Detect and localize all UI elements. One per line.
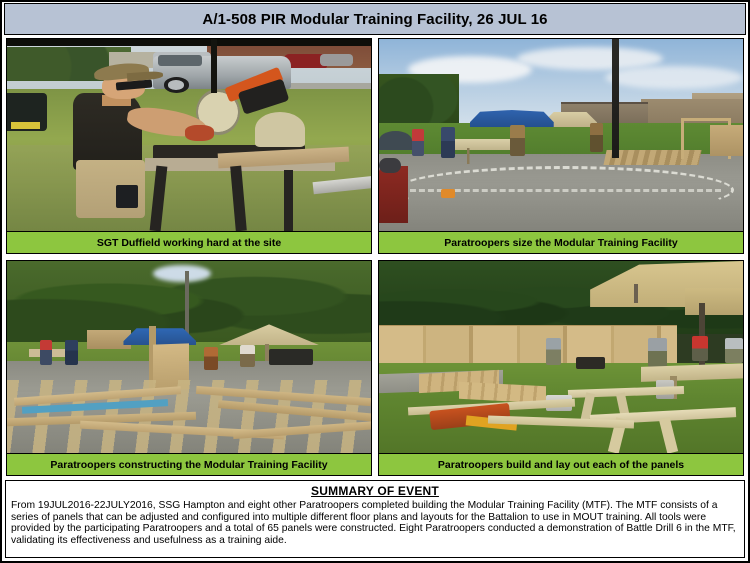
traffic-cone (441, 189, 456, 199)
page-header: A/1-508 PIR Modular Training Facility, 2… (4, 3, 746, 35)
photo-sgt-duffield-miter-saw (7, 39, 371, 231)
parked-red-vehicle (379, 166, 408, 224)
summary-body: From 19JUL2016-22JULY2016, SSG Hampton a… (11, 500, 739, 546)
paratrooper (590, 123, 603, 152)
paratrooper (441, 127, 456, 158)
saw-on-stand (576, 357, 605, 369)
paratrooper (648, 338, 666, 367)
photo-caption-top-left: SGT Duffield working hard at the site (7, 231, 371, 253)
photo-caption-bottom-right: Paratroopers build and lay out each of t… (379, 453, 743, 475)
equipment-label (11, 122, 40, 130)
cloud (517, 47, 663, 70)
paratrooper (240, 345, 255, 366)
caption-text: Paratroopers size the Modular Training F… (444, 237, 677, 249)
work-table (641, 363, 743, 382)
soldier-pouch (116, 185, 138, 208)
table-leg-right (284, 170, 293, 231)
work-table-legs (459, 148, 517, 163)
foreground-canopy (379, 131, 412, 150)
summary-panel: SUMMARY OF EVENT From 19JUL2016-22JULY20… (5, 480, 745, 558)
storyboard-page: A/1-508 PIR Modular Training Facility, 2… (0, 0, 750, 563)
parked-silver-car (320, 54, 353, 66)
truck-wheel-hub (168, 80, 184, 89)
caption-text: Paratroopers build and lay out each of t… (438, 459, 684, 471)
saw-blade-guard (255, 112, 306, 147)
canopy-panel (685, 288, 743, 315)
utility-pole (612, 39, 619, 158)
gloved-hand (185, 125, 214, 140)
paratrooper (412, 129, 425, 156)
wooden-structure (87, 330, 131, 349)
leaning-panel (710, 125, 743, 156)
summary-title: SUMMARY OF EVENT (11, 484, 739, 498)
paratrooper (40, 340, 53, 365)
paratrooper (725, 338, 743, 363)
paratrooper (546, 338, 561, 365)
photo-caption-bottom-left: Paratroopers constructing the Modular Tr… (7, 453, 371, 475)
photo-grid: SGT Duffield working hard at the site (2, 35, 748, 476)
photo-cell-bottom-left: Paratroopers constructing the Modular Tr… (6, 260, 372, 476)
canopy-post (634, 284, 638, 303)
photo-cell-top-right: Paratroopers size the Modular Training F… (378, 38, 744, 254)
photo-row-bottom: Paratroopers constructing the Modular Tr… (6, 260, 744, 476)
photo-row-top: SGT Duffield working hard at the site (6, 38, 744, 254)
photo-caption-top-right: Paratroopers size the Modular Training F… (379, 231, 743, 253)
photo-sizing-the-mtf (379, 39, 743, 231)
caption-text: Paratroopers constructing the Modular Tr… (50, 459, 327, 471)
photo-build-and-lay-out-panels (379, 261, 743, 453)
paratrooper (65, 340, 78, 365)
paratrooper (204, 347, 219, 370)
sky-gap (153, 265, 211, 282)
photo-cell-bottom-right: Paratroopers build and lay out each of t… (378, 260, 744, 476)
photo-constructing-the-mtf (7, 261, 371, 453)
canopy-edge (7, 39, 371, 46)
pickup-truck-window (158, 55, 202, 66)
vehicle-hood (379, 158, 401, 173)
paratrooper-red-shirt (692, 336, 708, 361)
canopy-post (211, 39, 217, 93)
page-title: A/1-508 PIR Modular Training Facility, 2… (202, 11, 547, 28)
caption-text: SGT Duffield working hard at the site (97, 237, 281, 249)
paratrooper (510, 125, 525, 156)
cloud (605, 66, 743, 89)
utility-cart (269, 349, 313, 364)
photo-cell-top-left: SGT Duffield working hard at the site (6, 38, 372, 254)
